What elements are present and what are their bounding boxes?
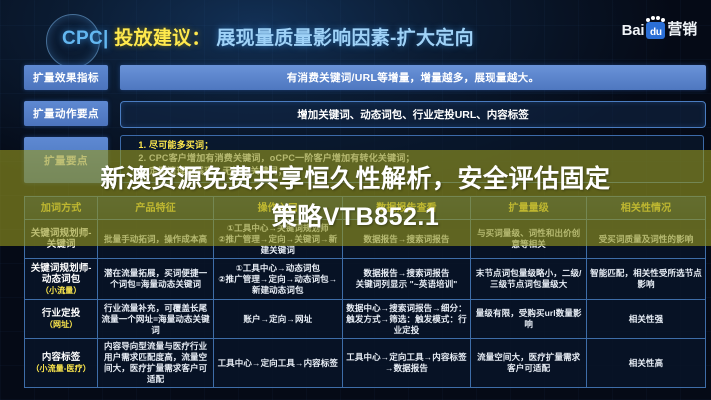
page-title-prefix: CPC|: [62, 28, 109, 49]
baidu-marketing-logo: Bai du 营销: [622, 18, 697, 39]
table-cell-scale: 量级有限，受购买url数量影响: [471, 300, 587, 339]
effect-metric-bar: 有消费关键词/URL等增量，增量越多，展现量越大。: [120, 65, 706, 90]
page-title-subject: 展现量质量影响因素-扩大定向: [216, 28, 474, 49]
page-title: CPC| 投放建议： 展现量质量影响因素-扩大定向: [62, 28, 474, 50]
table-cell-entry: ①工具中心→动态词包②推广管理→定向→动态词包→新建动态词包: [213, 259, 342, 300]
sidebar-item-effect-metric[interactable]: 扩量效果指标: [24, 65, 108, 90]
table-cell-method-sub: （网址）: [27, 319, 95, 330]
paw-dots-icon: [646, 16, 664, 22]
slide-header: CPC| 投放建议： 展现量质量影响因素-扩大定向 Bai du 营销: [0, 0, 711, 58]
table-cell-entry: 工具中心→定向工具→内容标签: [213, 339, 342, 388]
table-cell-scale: 流量空间大，医疗扩量需求客户可适配: [471, 339, 587, 388]
table-cell-report: 数据报告→搜索词报告关键词列显示 "~英语培训": [342, 259, 471, 300]
table-cell-entry: 账户→定向→网址: [213, 300, 342, 339]
sidebar-item-label: 扩量效果指标: [33, 70, 99, 85]
table-cell-relevance: 相关性强: [587, 300, 706, 339]
sidebar-item-action-points[interactable]: 扩量动作要点: [24, 101, 108, 126]
table-cell-method: 关键词规划师-动态词包（小流量）: [25, 259, 98, 300]
paw-print-icon: du: [646, 22, 665, 39]
page-title-emphasis: 投放建议：: [114, 28, 211, 49]
table-cell-scale: 末节点词包量级略小，二级/三级节点词包量级大: [471, 259, 587, 300]
effect-metric-text: 有消费关键词/URL等增量，增量越多，展现量越大。: [287, 70, 540, 85]
logo-text-du: du: [646, 27, 665, 39]
sidebar-item-label: 扩量动作要点: [33, 106, 99, 121]
table-cell-relevance: 相关性高: [587, 339, 706, 388]
table-cell-method-sub: （小流量）: [27, 285, 95, 296]
table-cell-method-sub: （小流量-医疗）: [27, 363, 95, 374]
table-row: 行业定投（网址）行业流量补充，可覆盖长尾流量一个网址=海量动态关键词账户→定向→…: [25, 300, 706, 339]
table-cell-method: 行业定投（网址）: [25, 300, 98, 339]
table-row: 内容标签（小流量-医疗）内容导向型流量与医疗行业用户需求匹配度高，流量空间大，医…: [25, 339, 706, 388]
action-points-text: 增加关键词、动态词包、行业定投URL、内容标签: [297, 107, 529, 122]
watermark-text: 新澳资源免费共享恒久性解析，安全评估固定 策略VTB852.1: [0, 150, 711, 246]
table-row: 关键词规划师-动态词包（小流量）潜在流量拓展，买词便捷一个词包=海量动态关键词①…: [25, 259, 706, 300]
action-points-bar: 增加关键词、动态词包、行业定投URL、内容标签: [120, 101, 706, 128]
table-cell-report: 数据中心→搜索词报告→细分：触发方式→筛选：触发模式：行业定投: [342, 300, 471, 339]
slide-canvas: CPC| 投放建议： 展现量质量影响因素-扩大定向 Bai du 营销 扩量效果…: [0, 0, 711, 400]
table-cell-report: 工具中心→定向工具→内容标签→数据报告: [342, 339, 471, 388]
logo-text-bai: Bai: [622, 22, 645, 39]
table-cell-feature: 潜在流量拓展，买词便捷一个词包=海量动态关键词: [98, 259, 214, 300]
table-cell-feature: 行业流量补充，可覆盖长尾流量一个网址=海量动态关键词: [98, 300, 214, 339]
table-cell-feature: 内容导向型流量与医疗行业用户需求匹配度高，流量空间大，医疗扩量需求客户可适配: [98, 339, 214, 388]
table-cell-method: 内容标签（小流量-医疗）: [25, 339, 98, 388]
watermark-line-2: 策略VTB852.1: [272, 198, 440, 236]
logo-text-suffix: 营销: [667, 18, 697, 39]
watermark-line-1: 新澳资源免费共享恒久性解析，安全评估固定: [100, 160, 610, 198]
table-cell-relevance: 智能匹配，相关性受所选节点影响: [587, 259, 706, 300]
